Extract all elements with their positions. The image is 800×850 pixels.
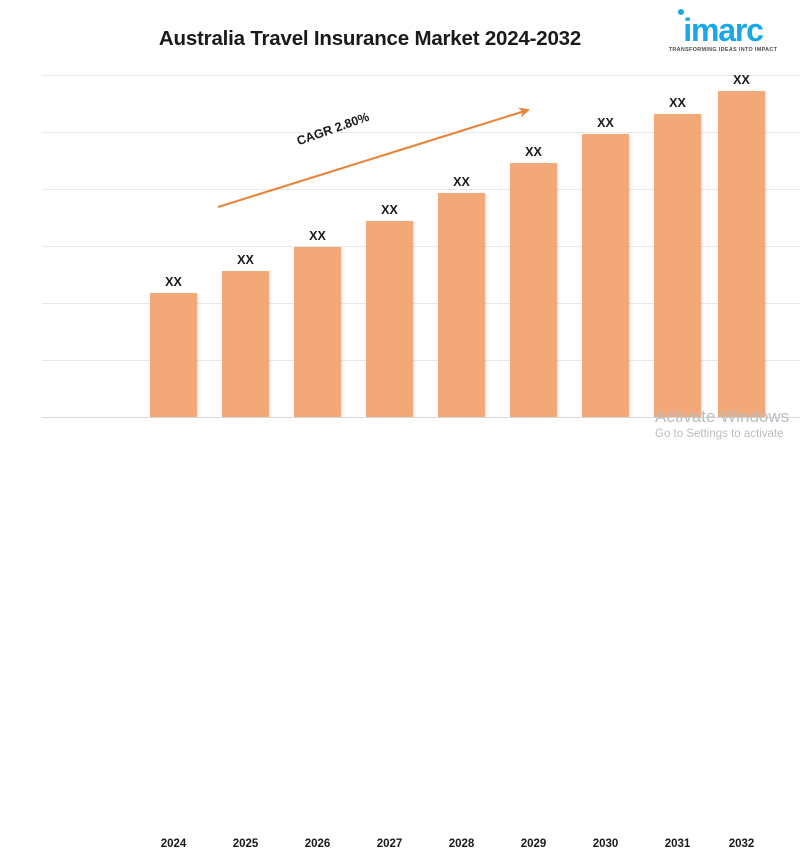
bar-2028[interactable] <box>438 193 485 417</box>
x-tick-label: 2025 <box>212 838 279 850</box>
bar-2025[interactable] <box>222 271 269 417</box>
x-tick-label: 2029 <box>500 838 567 850</box>
gridline <box>42 75 800 76</box>
bar-value-label: XX <box>140 275 207 289</box>
cagr-annotation-label: CAGR 2.80% <box>295 110 371 148</box>
bar-chart: XX 2024 XX 2025 XX 2026 XX 2027 XX 2028 … <box>0 0 800 446</box>
x-tick-label: 2031 <box>644 838 711 850</box>
bar-2026[interactable] <box>294 247 341 417</box>
x-tick-label: 2028 <box>428 838 495 850</box>
bar-value-label: XX <box>500 145 567 159</box>
x-tick-label: 2032 <box>708 838 775 850</box>
bar-2032[interactable] <box>718 91 765 417</box>
bar-value-label: XX <box>708 73 775 87</box>
x-tick-label: 2030 <box>572 838 639 850</box>
bar-value-label: XX <box>572 116 639 130</box>
bar-value-label: XX <box>644 96 711 110</box>
bar-2031[interactable] <box>654 114 701 417</box>
bar-value-label: XX <box>356 203 423 217</box>
bar-value-label: XX <box>284 229 351 243</box>
bar-2030[interactable] <box>582 134 629 417</box>
bar-2029[interactable] <box>510 163 557 417</box>
x-tick-label: 2026 <box>284 838 351 850</box>
bar-value-label: XX <box>428 175 495 189</box>
bar-2024[interactable] <box>150 293 197 417</box>
bar-value-label: XX <box>212 253 279 267</box>
bar-2027[interactable] <box>366 221 413 417</box>
x-tick-label: 2027 <box>356 838 423 850</box>
x-axis-baseline <box>42 417 800 418</box>
x-tick-label: 2024 <box>140 838 207 850</box>
